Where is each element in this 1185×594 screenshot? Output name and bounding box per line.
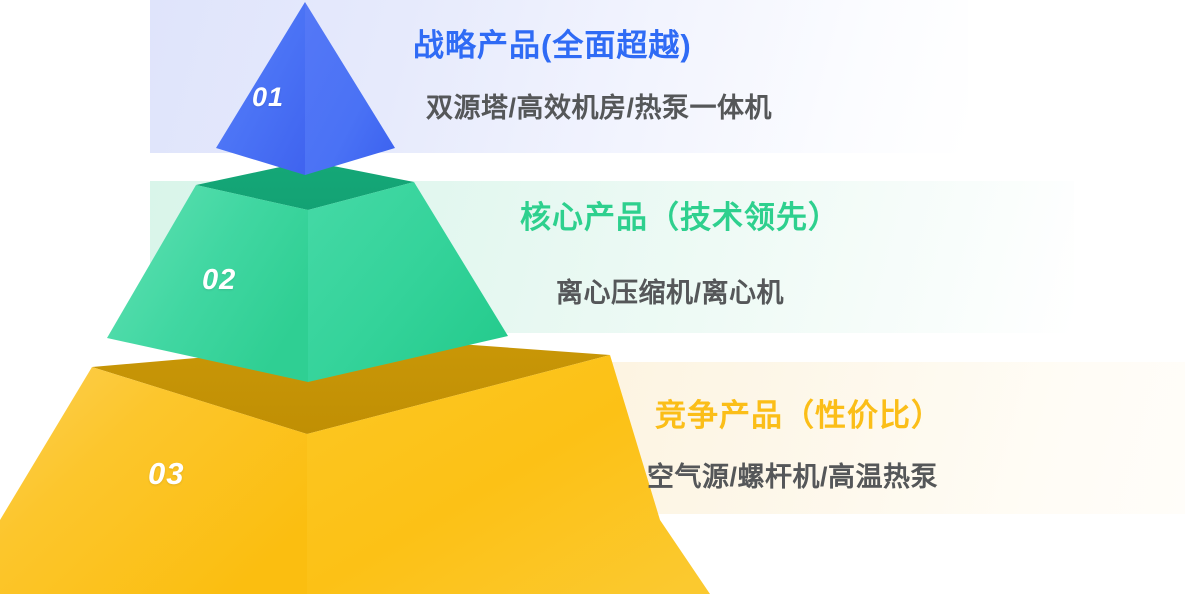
tier-1-subtitle: 双源塔/高效机房/热泵一体机 [426,93,772,124]
tier-2-title: 核心产品（技术领先） [520,200,840,236]
tier-3-subtitle: 空气源/螺杆机/高温热泵 [647,462,938,493]
tier-1-number: 01 [252,82,284,113]
tier-2-subtitle: 离心压缩机/离心机 [556,278,784,309]
pyramid-diagram: 01 02 03 战略产品(全面超越) 双源塔/高效机房/热泵一体机 核心产品（… [0,0,1185,594]
tier-3-number: 03 [148,456,184,492]
tier-2-number: 02 [202,264,236,297]
tier-1-background-band [150,0,968,153]
tier-1-title: 战略产品(全面超越) [413,28,692,64]
tier-3-title: 竞争产品（性价比） [655,398,943,434]
